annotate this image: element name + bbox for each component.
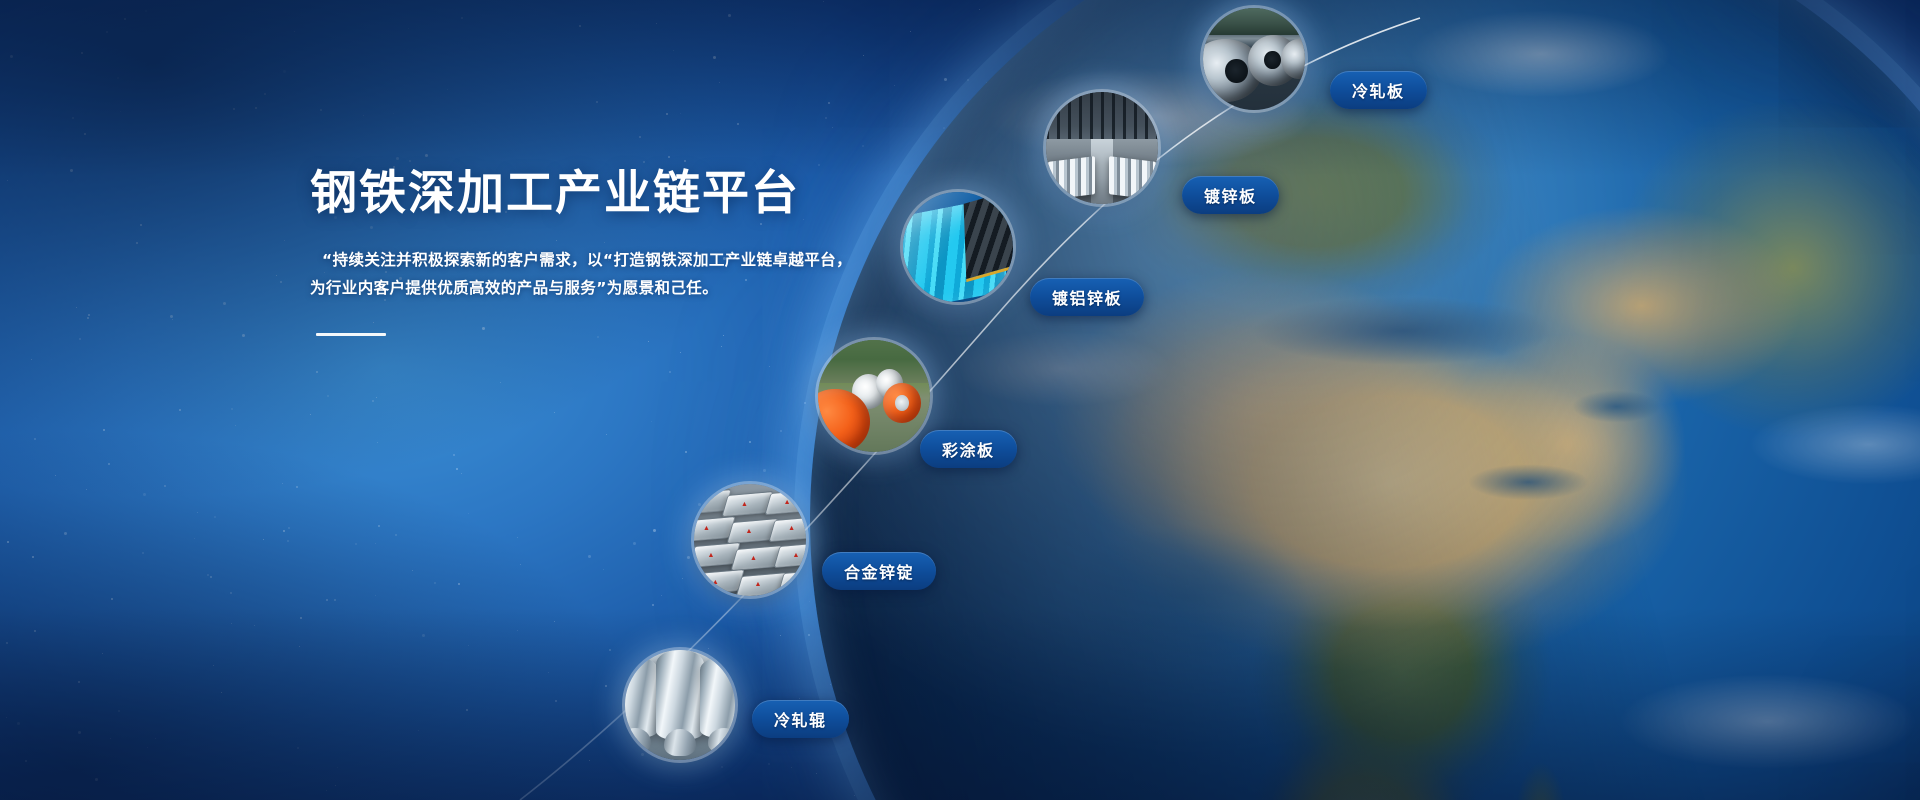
product-label-text: 镀铝锌板: [1052, 285, 1122, 309]
cold-rolling-roll-photo: [625, 650, 735, 760]
connector-arc: [0, 0, 1920, 800]
title-divider: [316, 333, 386, 336]
banner-subtitle: “持续关注并积极探索新的客户需求，以“打造钢铁深加工产业链卓越平台， 为行业内客…: [310, 246, 890, 303]
subtitle-line-2: 为行业内客户提供优质高效的产品与服务”为愿景和己任。: [310, 274, 890, 303]
globe-clouds: [810, 0, 1920, 800]
product-thumb-galvanized-plate[interactable]: [1046, 92, 1158, 204]
galvalume-blue-sheet-photo: [903, 192, 1013, 302]
page-title: 钢铁深加工产业链平台: [310, 168, 890, 220]
product-label-zinc-alloy-ingot[interactable]: 合金锌锭: [822, 552, 936, 590]
zinc-ingot-stack-photo: ▲▲▲▲▲▲▲▲▲▲▲▲: [694, 484, 806, 596]
space-vignette: [0, 0, 1920, 800]
product-thumb-color-coated-plate[interactable]: [818, 340, 930, 452]
starfield: [0, 0, 1920, 800]
steel-coil-photo: [1203, 8, 1305, 110]
color-coated-orange-coil-photo: [818, 340, 930, 452]
subtitle-line-1: “持续关注并积极探索新的客户需求，以“打造钢铁深加工产业链卓越平台，: [310, 246, 890, 275]
galvanized-warehouse-photo: [1046, 92, 1158, 204]
hero-banner: 冷轧板镀锌板镀铝锌板彩涂板▲▲▲▲▲▲▲▲▲▲▲▲合金锌锭冷轧辊 钢铁深加工产业…: [0, 0, 1920, 800]
earth-globe: [810, 0, 1920, 800]
globe-sphere: [810, 0, 1920, 800]
globe-terminator-shading: [810, 0, 1920, 800]
product-label-galvalume-plate[interactable]: 镀铝锌板: [1030, 278, 1144, 316]
product-label-text: 镀锌板: [1204, 183, 1257, 207]
banner-copy: 钢铁深加工产业链平台 “持续关注并积极探索新的客户需求，以“打造钢铁深加工产业链…: [310, 168, 890, 336]
product-thumb-cold-rolled-plate[interactable]: [1203, 8, 1305, 110]
product-label-text: 冷轧辊: [774, 707, 827, 731]
product-label-text: 冷轧板: [1352, 78, 1405, 102]
product-label-cold-rolling-roll[interactable]: 冷轧辊: [752, 700, 849, 738]
product-label-text: 合金锌锭: [844, 559, 914, 583]
globe-landmass: [810, 0, 1920, 800]
product-thumb-galvalume-plate[interactable]: [903, 192, 1013, 302]
product-label-galvanized-plate[interactable]: 镀锌板: [1182, 176, 1279, 214]
product-label-color-coated-plate[interactable]: 彩涂板: [920, 430, 1017, 468]
globe-seas: [810, 0, 1920, 800]
product-thumb-zinc-alloy-ingot[interactable]: ▲▲▲▲▲▲▲▲▲▲▲▲: [694, 484, 806, 596]
product-thumb-cold-rolling-roll[interactable]: [625, 650, 735, 760]
product-label-text: 彩涂板: [942, 437, 995, 461]
globe-atmosphere-rim: [794, 0, 1920, 800]
product-label-cold-rolled-plate[interactable]: 冷轧板: [1330, 71, 1427, 109]
